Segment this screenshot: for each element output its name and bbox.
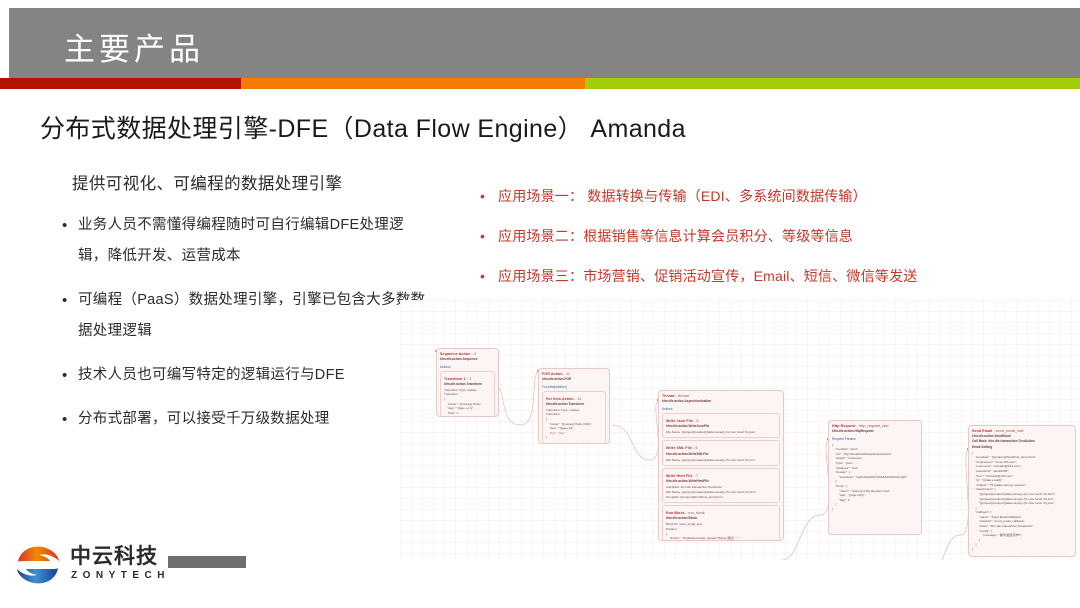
subcard-body: Transform Type: replace Transform: [ "na… [546,408,605,440]
node-class-id: kfm.dfe.action.Asynchronization [662,399,783,403]
list-item-label: 分布式部署，可以接受千万级数据处理 [78,404,432,435]
node-class-id: kfm.dfe.action.SendEmail [972,434,1075,438]
header-band: 主要产品 [9,8,1080,78]
node-title: Http Request - http_request_test [832,424,921,428]
list-item-label: 可编程（PaaS）数据处理引擎，引擎已包含大多数数据处理逻辑 [78,285,432,347]
diagram-subcard-for-item-action[interactable]: For Item Action - 12 kfm.dfe.action.Tran… [542,391,606,444]
diagram-node-http-request[interactable]: Http Request - http_request_test kfm.dfe… [828,420,922,535]
subcard-title: Write Json File - 5 [666,419,779,423]
subcard-body: Transform Type: update Transform: [ "nam… [444,388,494,417]
list-item: • 应用场景一： 数据转换与传输（EDI、多系统间数据传输） [480,186,1070,206]
list-item-label: 技术人员也可编写特定的逻辑运行与DFE [78,360,432,391]
bullet-icon: • [480,226,498,246]
diagram-node-sequence-action[interactable]: Sequence Action - 2 kfm.dfe.action.Seque… [436,348,499,417]
subcard-class-id: kfm.dfe.action.WriteHtmlFile [666,479,779,483]
node-class-id: kfm.dfe.action.Sequence [440,357,498,361]
diagram-node-for-action[interactable]: FOR Action - 11 kfm.dfe.action.FOR For.d… [538,368,610,444]
list-item: • 应用场景三：市场营销、促销活动宣传，Email、短信、微信等发送 [480,266,1070,286]
diagram-subcard-write-xml-file[interactable]: Write XML File - 6 kfm.dfe.action.WriteX… [662,440,780,466]
node-title: Thread - thread [662,394,783,398]
list-item: • 可编程（PaaS）数据处理引擎，引擎已包含大多数数据处理逻辑 [62,285,432,347]
node-section-label: Actions [440,365,498,369]
node-callback-id: Call Back: kfm.dfe.transaction.TestActio… [972,439,1075,443]
subcard-title: Transform 1 - 3 [444,377,494,381]
subcard-class-id: kfm.dfe.action.Transform [546,402,605,406]
node-body: [ "template": "{{project}}/html/html_tem… [972,451,1075,552]
node-title: FOR Action - 11 [542,372,609,376]
node-body: [ "method": "post", "url": "http://local… [832,443,921,512]
diagram-node-send-email[interactable]: Send Email - send_email_test kfm.dfe.act… [968,425,1076,557]
subcard-class-id: kfm.dfe.action.Transform [444,382,494,386]
zonytech-emblem-icon [14,542,62,588]
accent-bar-green [585,78,1080,89]
node-class-id: kfm.dfe.action.HttpRequest [832,429,921,433]
subcard-body: File Name: {{project}}/output/{{data.nam… [666,430,779,435]
left-lead-text: 提供可视化、可编程的数据处理引擎 [72,170,342,194]
list-item-label: 应用场景一： 数据转换与传输（EDI、多系统间数据传输） [498,186,1070,206]
node-title: Send Email - send_email_test [972,429,1075,433]
section-heading: 分布式数据处理引擎-DFE（Data Flow Engine） Amanda [40,112,686,146]
list-item: • 分布式部署，可以接受千万级数据处理 [62,404,432,435]
diagram-subcard-write-json-file[interactable]: Write Json File - 5 kfm.dfe.action.Write… [662,413,780,439]
subcard-title: Run Block - run_block [666,511,779,515]
node-title: Sequence Action - 2 [440,352,498,356]
list-item: • 业务人员不需懂得编程随时可自行编辑DFE处理逻辑，降低开发、运营成本 [62,210,432,272]
node-section-label: For.data[children] [542,385,609,389]
list-item: • 技术人员也可编写特定的逻辑运行与DFE [62,360,432,391]
logo-text-cn: 中云科技 [70,545,158,569]
node-section-label: Actions [662,407,783,411]
logo-accent-bar [168,556,246,568]
left-bullet-list: • 业务人员不需懂得编程随时可自行编辑DFE处理逻辑，降低开发、运营成本 • 可… [62,210,432,448]
bullet-icon: • [62,210,78,241]
list-item-label: 应用场景三：市场营销、促销活动宣传，Email、短信、微信等发送 [498,266,1070,286]
bullet-icon: • [62,404,78,435]
subcard-title: Write XML File - 6 [666,446,779,450]
subcard-title: For Item Action - 12 [546,397,605,401]
bullet-icon: • [62,285,78,316]
diagram-subcard-write-html-file[interactable]: Write Html File - 7 kfm.dfe.action.Write… [662,468,780,503]
node-section-label: Request Params [832,437,921,441]
bullet-icon: • [480,186,498,206]
subcard-class-id: kfm.dfe.action.WriteJsonFile [666,424,779,428]
list-item-label: 应用场景二：根据销售等信息计算会员积分、等级等信息 [498,226,1070,246]
subcard-body: Call Back: kfm.dfe.transaction.TestActio… [666,485,779,499]
bullet-icon: • [480,266,498,286]
flow-diagram-image: Sequence Action - 2 kfm.dfe.action.Seque… [400,300,1080,560]
diagram-subcard-transform1[interactable]: Transform 1 - 3 kfm.dfe.action.Transform… [440,371,495,417]
accent-bar-dark-red [0,78,241,89]
bullet-icon: • [62,360,78,391]
subcard-body: Block ID: send_email_test Params: [ "act… [666,522,779,541]
right-bullet-list: • 应用场景一： 数据转换与传输（EDI、多系统间数据传输） • 应用场景二：根… [480,186,1070,306]
subcard-class-id: kfm.dfe.action.WriteXMLFile [666,452,779,456]
subcard-class-id: kfm.dfe.action.Block [666,516,779,520]
list-item: • 应用场景二：根据销售等信息计算会员积分、等级等信息 [480,226,1070,246]
subcard-title: Write Html File - 7 [666,474,779,478]
node-section-label: Email Setting [972,445,1075,449]
subcard-body: File Name: {{project}}/output/{{data.nam… [666,458,779,463]
logo-text-en: ZONYTECH [71,570,170,582]
accent-bar-orange [241,78,585,89]
node-class-id: kfm.dfe.action.FOR [542,377,609,381]
diagram-node-thread[interactable]: Thread - thread kfm.dfe.action.Asynchron… [658,390,784,541]
slide-root: 主要产品 分布式数据处理引擎-DFE（Data Flow Engine） Ama… [0,0,1080,608]
list-item-label: 业务人员不需懂得编程随时可自行编辑DFE处理逻辑，降低开发、运营成本 [78,210,432,272]
diagram-subcard-run-block[interactable]: Run Block - run_block kfm.dfe.action.Blo… [662,505,780,541]
page-title: 主要产品 [64,28,204,72]
